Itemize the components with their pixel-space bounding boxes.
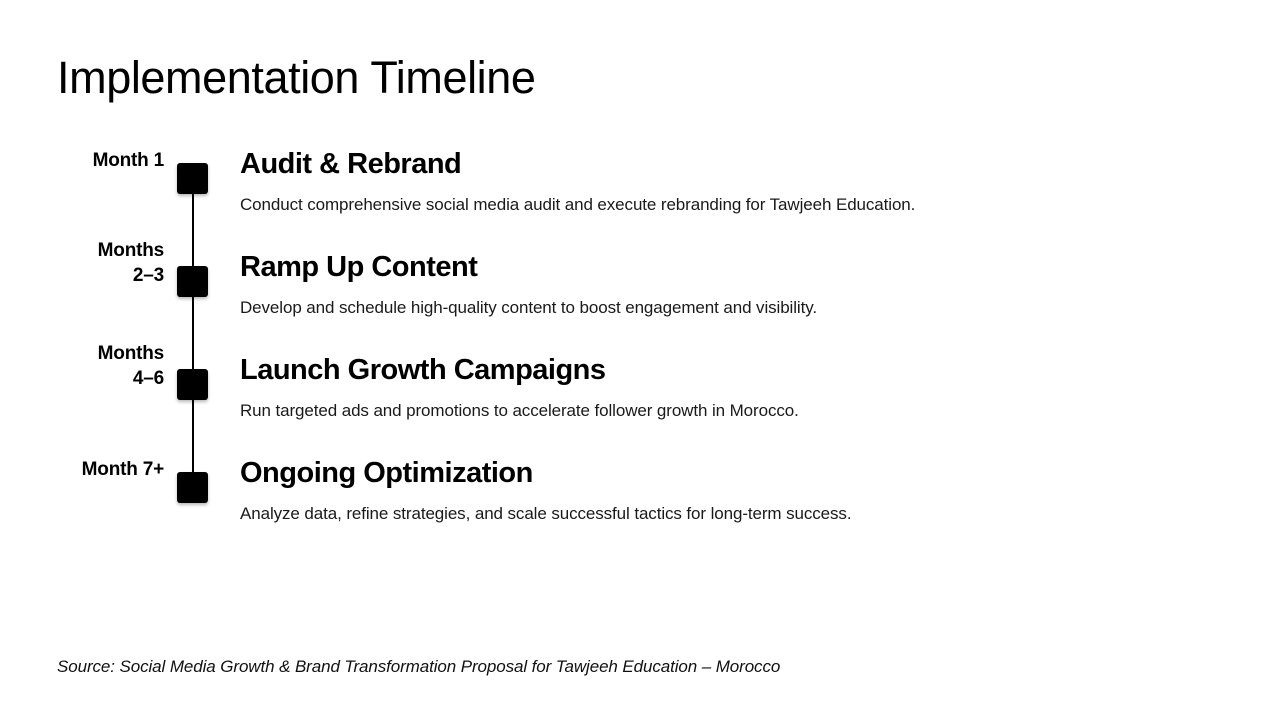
- timeline-item-content: Launch Growth Campaigns Run targeted ads…: [240, 352, 1240, 422]
- timeline-marker-square-icon: [177, 266, 208, 297]
- source-note: Source: Social Media Growth & Brand Tran…: [57, 657, 780, 677]
- timeline-marker-square-icon: [177, 369, 208, 400]
- timeline-period-label: Month 7+: [40, 457, 164, 482]
- timeline-item-description: Develop and schedule high-quality conten…: [240, 296, 1240, 319]
- timeline-item-heading: Ongoing Optimization: [240, 455, 1240, 491]
- timeline-marker-square-icon: [177, 163, 208, 194]
- timeline-item-content: Ongoing Optimization Analyze data, refin…: [240, 455, 1240, 525]
- timeline-item-content: Audit & Rebrand Conduct comprehensive so…: [240, 146, 1240, 216]
- timeline-item-heading: Launch Growth Campaigns: [240, 352, 1240, 388]
- slide-canvas: Implementation Timeline Month 1 Audit & …: [0, 0, 1280, 720]
- timeline-item-description: Analyze data, refine strategies, and sca…: [240, 502, 1240, 525]
- timeline-item-heading: Audit & Rebrand: [240, 146, 1240, 182]
- timeline-item: Month 7+ Ongoing Optimization Analyze da…: [0, 469, 1280, 572]
- page-title: Implementation Timeline: [57, 52, 536, 104]
- timeline-item: Months 2–3 Ramp Up Content Develop and s…: [0, 263, 1280, 366]
- timeline-item-description: Run targeted ads and promotions to accel…: [240, 399, 1240, 422]
- timeline-item: Months 4–6 Launch Growth Campaigns Run t…: [0, 366, 1280, 469]
- timeline-period-label: Months 2–3: [40, 238, 164, 288]
- timeline-marker-square-icon: [177, 472, 208, 503]
- timeline-period-label: Month 1: [40, 148, 164, 173]
- timeline-period-label: Months 4–6: [40, 341, 164, 391]
- timeline-item-heading: Ramp Up Content: [240, 249, 1240, 285]
- timeline-item-content: Ramp Up Content Develop and schedule hig…: [240, 249, 1240, 319]
- timeline-item-description: Conduct comprehensive social media audit…: [240, 193, 1240, 216]
- timeline-item: Month 1 Audit & Rebrand Conduct comprehe…: [0, 160, 1280, 263]
